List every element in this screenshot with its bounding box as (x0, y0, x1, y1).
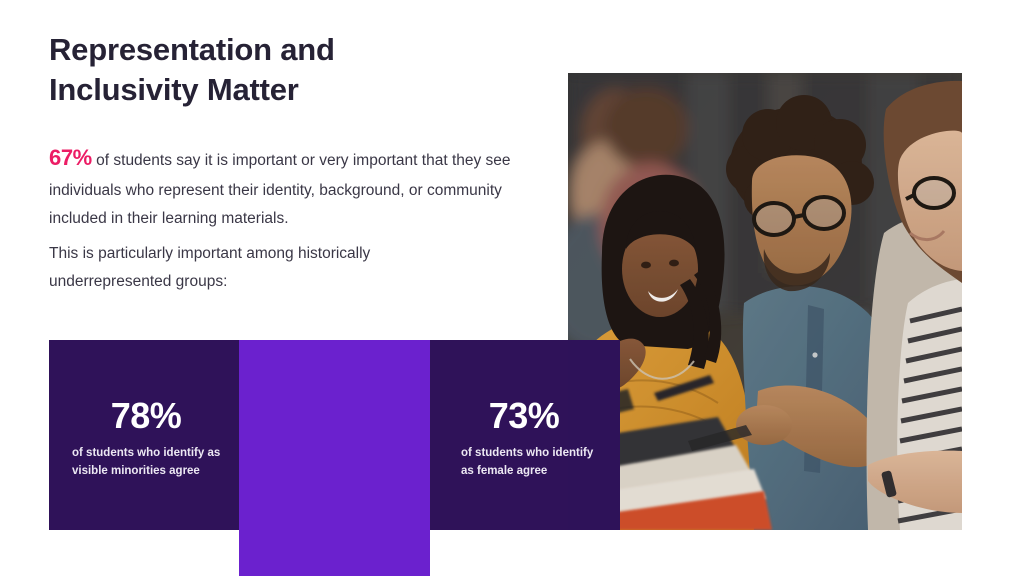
stat-visible-minorities-caption-line-1: of students who identify as (72, 445, 232, 463)
primary-statistic-text: of students say it is important or very … (49, 152, 511, 227)
stat-female-caption-line-2: as female agree (461, 463, 621, 481)
page-title-line-1: Representation and (49, 30, 529, 70)
stat-visible-minorities: 78% of students who identify as visible … (72, 398, 232, 481)
stat-visible-minorities-caption: of students who identify as visible mino… (72, 445, 232, 481)
primary-statistic-value: 67% (49, 145, 92, 170)
stat-visible-minorities-caption-line-2: visible minorities agree (72, 463, 232, 481)
slide-root: Representation and Inclusivity Matter 67… (0, 0, 1024, 576)
stat-female: 73% of students who identify as female a… (461, 398, 621, 481)
students-photo (568, 73, 962, 530)
primary-statistic-paragraph: 67% of students say it is important or v… (49, 138, 529, 232)
stat-female-value: 73% (461, 398, 587, 434)
stat-female-caption-line-1: of students who identify (461, 445, 621, 463)
secondary-paragraph: This is particularly important among his… (49, 240, 479, 295)
page-title: Representation and Inclusivity Matter (49, 30, 529, 109)
stat-female-caption: of students who identify as female agree (461, 445, 621, 481)
stat-visible-minorities-value: 78% (72, 398, 220, 434)
page-title-line-2: Inclusivity Matter (49, 70, 529, 110)
bright-purple-block (239, 340, 430, 576)
